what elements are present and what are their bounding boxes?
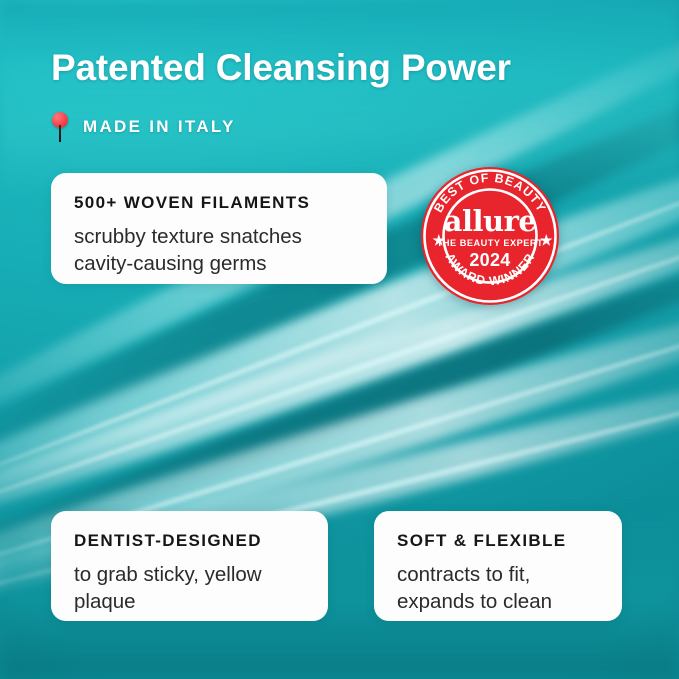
- feature-card-body: contracts to fit, expands to clean: [397, 561, 622, 615]
- map-pin-stem: [59, 125, 61, 142]
- feature-card-heading: DENTIST-DESIGNED: [74, 531, 328, 551]
- product-feature-image: Patented Cleansing Power MADE IN ITALY 5…: [0, 0, 679, 679]
- feature-card-dentist: DENTIST-DESIGNED to grab sticky, yellow …: [51, 511, 328, 621]
- map-pin-icon: [51, 112, 69, 142]
- feature-card-body-line: cavity-causing germs: [74, 250, 387, 277]
- made-in-italy-label: MADE IN ITALY: [83, 117, 236, 137]
- allure-award-badge: BEST OF BEAUTY AWARD WINNER ★ ★ allure T…: [419, 165, 561, 307]
- page-title: Patented Cleansing Power: [51, 46, 511, 90]
- feature-card-soft-flexible: SOFT & FLEXIBLE contracts to fit, expand…: [374, 511, 622, 621]
- feature-card-body-line: contracts to fit,: [397, 561, 622, 588]
- feature-card-heading: 500+ WOVEN FILAMENTS: [74, 193, 387, 213]
- feature-card-body: scrubby texture snatches cavity-causing …: [74, 223, 387, 277]
- badge-brand-name: allure: [444, 204, 537, 238]
- feature-card-body: to grab sticky, yellow plaque: [74, 561, 328, 615]
- badge-year: 2024: [469, 250, 510, 270]
- feature-card-body-line: expands to clean: [397, 588, 622, 615]
- feature-card-body-line: scrubby texture snatches: [74, 223, 387, 250]
- feature-card-filaments: 500+ WOVEN FILAMENTS scrubby texture sna…: [51, 173, 387, 284]
- feature-card-heading: SOFT & FLEXIBLE: [397, 531, 622, 551]
- feature-card-body-line: plaque: [74, 588, 328, 615]
- feature-card-body-line: to grab sticky, yellow: [74, 561, 328, 588]
- made-in-italy-row: MADE IN ITALY: [51, 112, 236, 142]
- badge-tagline: THE BEAUTY EXPERT: [437, 238, 543, 248]
